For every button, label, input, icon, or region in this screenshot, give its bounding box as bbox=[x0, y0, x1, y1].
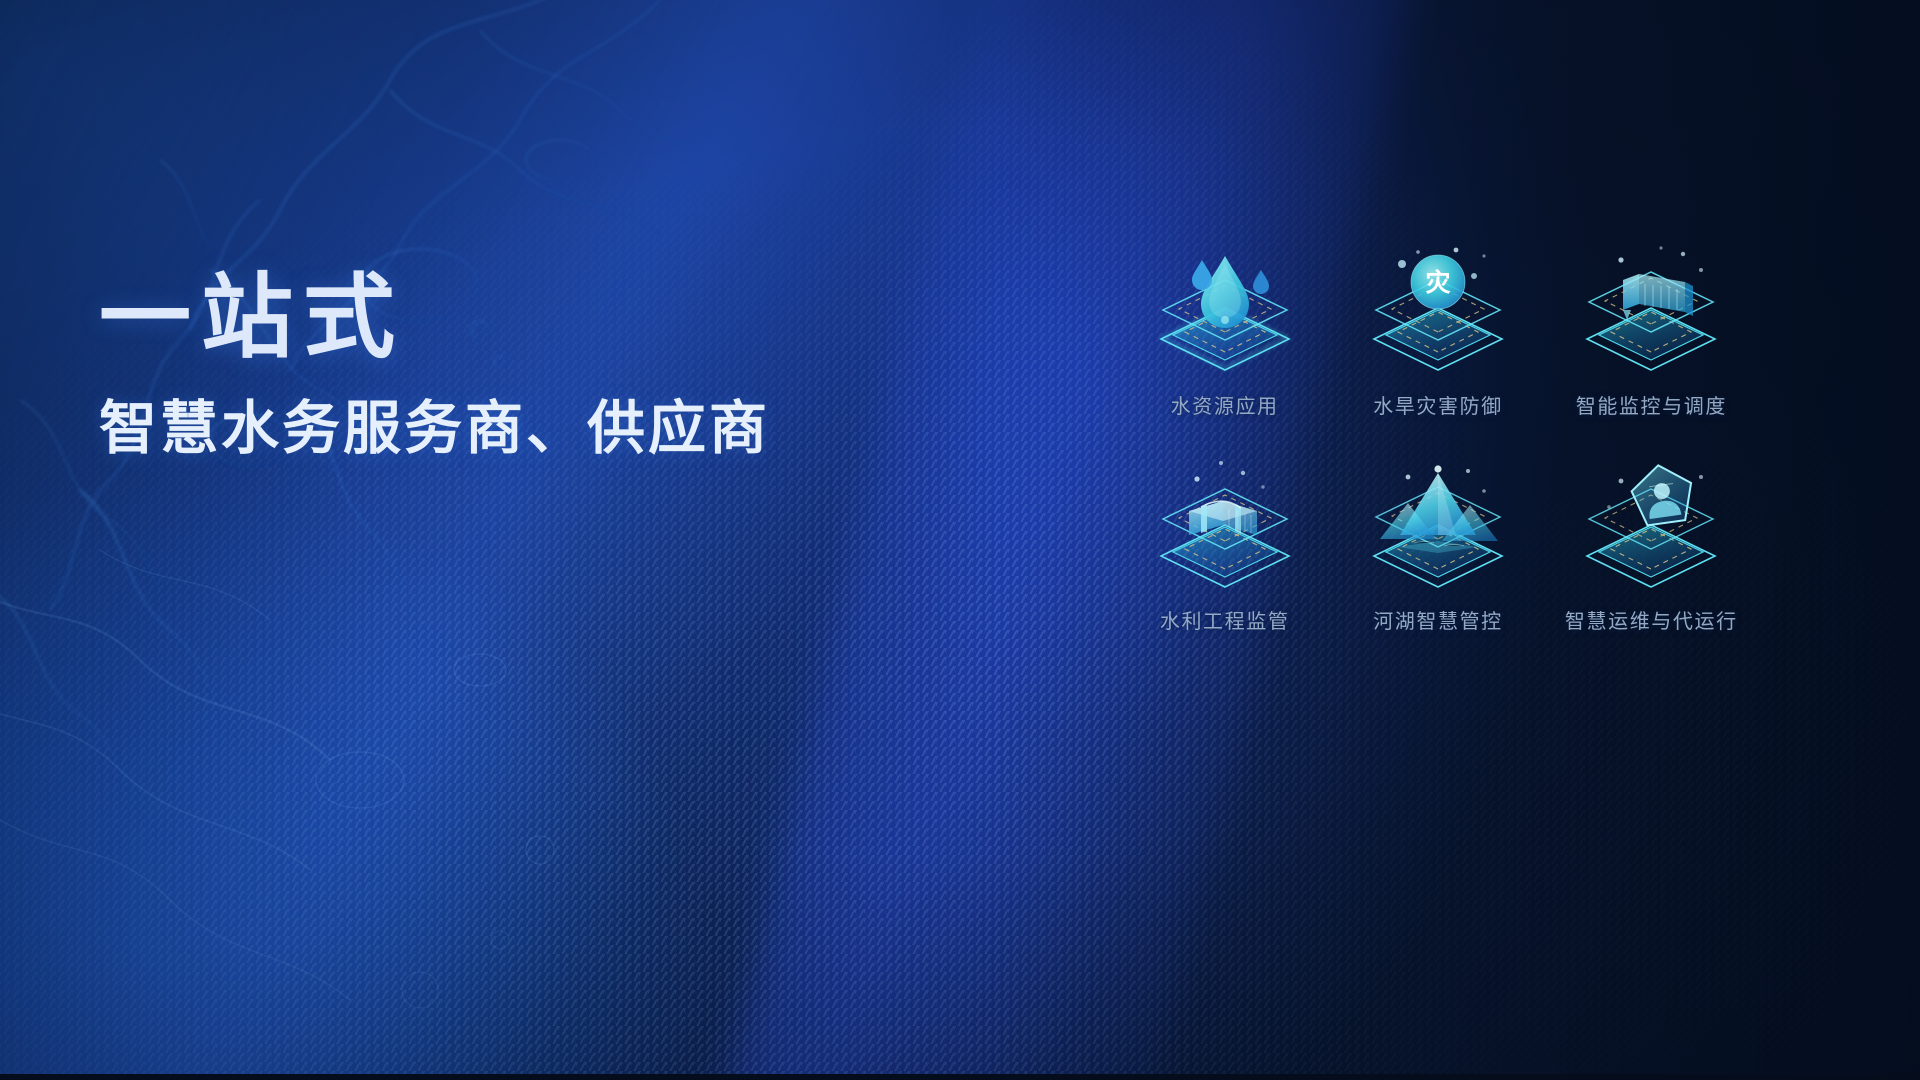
slide-canvas: 一站式 智慧水务服务商、供应商 bbox=[0, 0, 1920, 1080]
bottom-edge-strip bbox=[0, 1074, 1920, 1080]
disaster-badge-text: 灾 bbox=[1425, 268, 1450, 297]
grid-item-label: 河湖智慧管控 bbox=[1373, 605, 1503, 634]
disaster-sphere-icon: 灾 bbox=[1352, 236, 1524, 386]
grid-item-water-resource[interactable]: 水资源应用 bbox=[1118, 236, 1331, 419]
icon-container bbox=[1352, 451, 1524, 601]
icon-container bbox=[1139, 236, 1311, 386]
grid-item-label: 水旱灾害防御 bbox=[1373, 390, 1503, 419]
grid-item-label: 智能监控与调度 bbox=[1576, 390, 1727, 419]
water-drop-icon bbox=[1139, 236, 1311, 386]
river-lake-mountain-icon bbox=[1352, 451, 1524, 601]
page-title: 一站式 bbox=[99, 272, 999, 364]
dam-monitor-icon bbox=[1565, 236, 1737, 386]
grid-item-label: 智慧运维与代运行 bbox=[1565, 605, 1738, 634]
icon-container bbox=[1139, 451, 1311, 601]
grid-item-river-lake-control[interactable]: 河湖智慧管控 bbox=[1331, 451, 1544, 634]
icon-container bbox=[1565, 451, 1737, 601]
shield-operations-icon bbox=[1565, 451, 1737, 601]
icon-container bbox=[1565, 236, 1737, 386]
page-subtitle: 智慧水务服务商、供应商 bbox=[99, 396, 999, 463]
headline-block: 一站式 智慧水务服务商、供应商 bbox=[99, 272, 999, 463]
grid-item-flood-drought-defense[interactable]: 灾 水旱灾害防御 bbox=[1331, 236, 1544, 419]
grid-item-smart-operations[interactable]: 智慧运维与代运行 bbox=[1545, 451, 1758, 634]
grid-item-smart-monitoring[interactable]: 智能监控与调度 bbox=[1545, 236, 1758, 419]
icon-container: 灾 bbox=[1352, 236, 1524, 386]
grid-item-label: 水资源应用 bbox=[1171, 390, 1279, 419]
grid-item-hydro-engineering[interactable]: 水利工程监管 bbox=[1118, 451, 1331, 634]
service-icon-grid: 水资源应用 bbox=[1118, 236, 1758, 634]
hydro-engineering-icon bbox=[1139, 451, 1311, 601]
grid-item-label: 水利工程监管 bbox=[1160, 605, 1290, 634]
